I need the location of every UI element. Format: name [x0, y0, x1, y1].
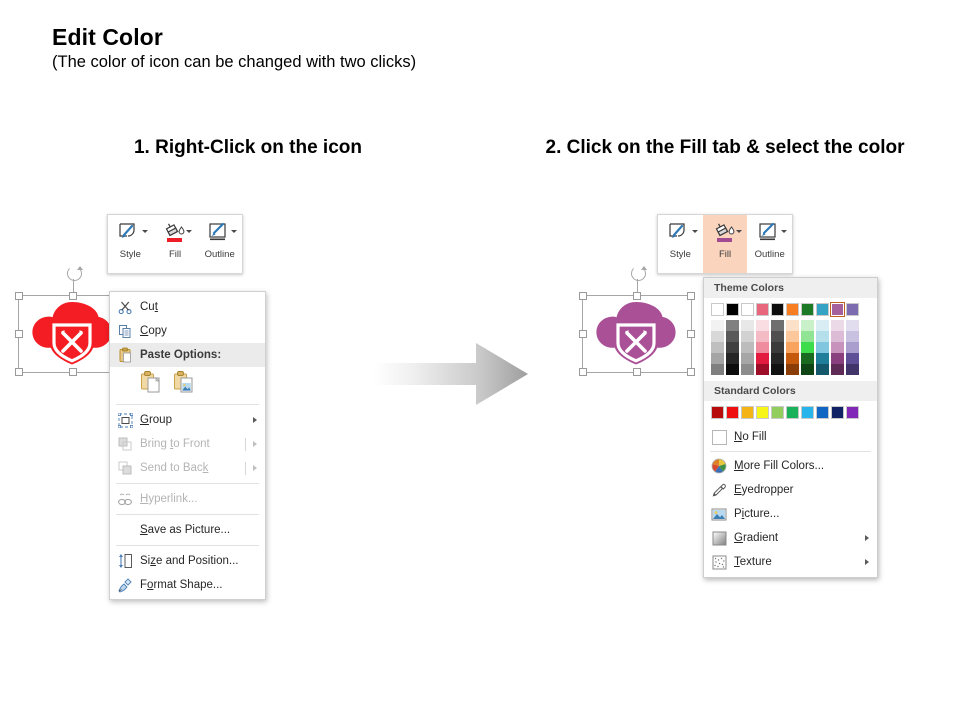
step-2-heading: 2. Click on the Fill tab & select the co…	[495, 133, 955, 162]
fill-bucket-icon	[153, 219, 198, 247]
theme-variant-swatch-7-4[interactable]	[816, 364, 829, 375]
theme-variant-swatch-2-4[interactable]	[741, 364, 754, 375]
paste-keep-formatting-icon[interactable]	[140, 370, 162, 399]
send-to-back-icon	[110, 456, 140, 480]
context-menu-item-copy[interactable]: Copy	[110, 319, 265, 343]
style-button-step2[interactable]: Style	[658, 215, 703, 273]
fill-dropdown-caret[interactable]	[736, 230, 742, 233]
fill-bucket-icon	[703, 219, 748, 247]
theme-variant-swatch-0-0[interactable]	[711, 320, 724, 331]
outline-button-label: Outline	[755, 249, 785, 260]
paste-icon	[110, 343, 140, 367]
theme-variant-swatch-5-4[interactable]	[786, 364, 799, 375]
theme-variant-swatch-5-2[interactable]	[786, 342, 799, 353]
standard-colors-swatch-row[interactable]	[704, 401, 877, 425]
standard-color-swatch-7[interactable]	[816, 406, 829, 419]
standard-color-swatch-8[interactable]	[831, 406, 844, 419]
context-menu-item-bring-to-front: Bring to Front	[110, 432, 265, 456]
color-panel-item-eyedropper[interactable]: Eyedropper	[704, 478, 877, 502]
theme-variant-swatch-4-3[interactable]	[771, 353, 784, 364]
standard-color-swatch-3[interactable]	[756, 406, 769, 419]
theme-variant-column-3[interactable]	[756, 320, 769, 375]
fill-button-label: Fill	[719, 249, 731, 260]
theme-colors-swatch-row[interactable]	[704, 298, 877, 316]
standard-color-swatch-6[interactable]	[801, 406, 814, 419]
theme-variant-swatch-1-2[interactable]	[726, 342, 739, 353]
fill-dropdown-caret[interactable]	[186, 230, 192, 233]
handle-bottom-left[interactable]	[579, 368, 587, 376]
color-panel-separator	[710, 451, 871, 452]
theme-variant-swatch-8-3[interactable]	[831, 353, 844, 364]
theme-variant-column-0[interactable]	[711, 320, 724, 375]
outline-button-label: Outline	[205, 249, 235, 260]
context-menu-item-format-shape[interactable]: Format Shape...	[110, 573, 265, 597]
context-menu[interactable]: Cut Copy Paste Options:	[109, 291, 266, 600]
standard-color-swatch-5[interactable]	[786, 406, 799, 419]
color-panel-item-no-fill[interactable]: No Fill	[704, 425, 877, 449]
theme-variant-swatch-1-0[interactable]	[726, 320, 739, 331]
chevron-right-icon	[253, 441, 257, 447]
shape-style-icon	[108, 219, 153, 247]
theme-variant-column-8[interactable]	[831, 320, 844, 375]
cloud-shield-icon-step1	[26, 299, 118, 367]
theme-variant-swatch-5-3[interactable]	[786, 353, 799, 364]
theme-variant-swatch-6-2[interactable]	[801, 342, 814, 353]
eyedropper-icon	[704, 482, 734, 498]
theme-color-swatch-1[interactable]	[726, 303, 739, 316]
context-menu-label: Bring to Front	[140, 438, 245, 450]
cloud-shield-icon-step2	[590, 299, 682, 367]
color-panel-item-picture[interactable]: Picture...	[704, 502, 877, 526]
context-menu-label: Cut	[140, 301, 265, 313]
group-icon	[110, 408, 140, 432]
theme-color-swatch-4[interactable]	[771, 303, 784, 316]
style-button-label: Style	[670, 249, 691, 260]
color-panel-label: No Fill	[734, 431, 877, 443]
handle-middle-right[interactable]	[687, 330, 695, 338]
standard-color-swatch-1[interactable]	[726, 406, 739, 419]
standard-color-swatch-2[interactable]	[741, 406, 754, 419]
standard-color-swatch-9[interactable]	[846, 406, 859, 419]
standard-colors-label: Standard Colors	[704, 381, 877, 401]
context-menu-label: Size and Position...	[140, 555, 265, 567]
chevron-right-icon	[253, 417, 257, 423]
color-panel-item-texture[interactable]: Texture	[704, 550, 877, 574]
mini-toolbar-step2[interactable]: Style Fill	[657, 214, 793, 274]
theme-variant-swatch-6-3[interactable]	[801, 353, 814, 364]
slide-canvas: Edit Color (The color of icon can be cha…	[0, 0, 960, 720]
theme-variant-swatch-7-2[interactable]	[816, 342, 829, 353]
theme-color-variants-grid[interactable]	[704, 316, 877, 381]
outline-dropdown-caret[interactable]	[231, 230, 237, 233]
paste-options-row[interactable]	[110, 367, 265, 401]
color-panel-label: More Fill Colors...	[734, 460, 877, 472]
context-menu-label: Group	[140, 414, 253, 426]
theme-variant-swatch-4-2[interactable]	[771, 342, 784, 353]
fill-button-step2[interactable]: Fill	[703, 215, 748, 273]
shape-outline-icon	[197, 219, 242, 247]
handle-top-left[interactable]	[579, 292, 587, 300]
theme-variant-swatch-4-1[interactable]	[771, 331, 784, 342]
chevron-right-icon	[865, 535, 869, 541]
theme-variant-swatch-7-3[interactable]	[816, 353, 829, 364]
theme-variant-swatch-3-1[interactable]	[756, 331, 769, 342]
handle-middle-left[interactable]	[15, 330, 23, 338]
theme-color-swatch-6[interactable]	[801, 303, 814, 316]
theme-variant-swatch-4-0[interactable]	[771, 320, 784, 331]
mini-toolbar-step1[interactable]: Style Fill	[107, 214, 243, 274]
theme-variant-swatch-1-1[interactable]	[726, 331, 739, 342]
theme-color-swatch-5[interactable]	[786, 303, 799, 316]
paste-picture-icon[interactable]	[173, 370, 195, 399]
standard-color-swatch-0[interactable]	[711, 406, 724, 419]
theme-color-swatch-2[interactable]	[741, 303, 754, 316]
context-menu-item-send-to-back: Send to Back	[110, 456, 265, 480]
hyperlink-icon	[110, 487, 140, 511]
theme-variant-swatch-4-4[interactable]	[771, 364, 784, 375]
theme-variant-swatch-8-2[interactable]	[831, 342, 844, 353]
context-menu-label: Copy	[140, 325, 265, 337]
theme-variant-swatch-3-2[interactable]	[756, 342, 769, 353]
theme-variant-swatch-3-0[interactable]	[756, 320, 769, 331]
fill-color-picker-panel[interactable]: Theme Colors Standard Colors No Fill	[703, 277, 878, 578]
texture-icon	[704, 555, 734, 570]
handle-bottom-center[interactable]	[69, 368, 77, 376]
context-menu-label: Paste Options:	[140, 349, 265, 361]
theme-variant-swatch-5-0[interactable]	[786, 320, 799, 331]
theme-color-swatch-3[interactable]	[756, 303, 769, 316]
theme-variant-swatch-6-0[interactable]	[801, 320, 814, 331]
menu-divider	[245, 438, 246, 451]
context-menu-item-paste-options: Paste Options:	[110, 343, 265, 367]
context-menu-separator	[116, 545, 259, 546]
theme-variant-swatch-3-3[interactable]	[756, 353, 769, 364]
color-panel-label: Picture...	[734, 508, 877, 520]
blank-icon	[110, 518, 140, 542]
theme-variant-swatch-8-0[interactable]	[831, 320, 844, 331]
theme-variant-swatch-9-2[interactable]	[846, 342, 859, 353]
style-button-label: Style	[120, 249, 141, 260]
theme-variant-column-9[interactable]	[846, 320, 859, 375]
theme-colors-label: Theme Colors	[704, 278, 877, 298]
context-menu-label: Hyperlink...	[140, 493, 265, 505]
color-wheel-icon	[704, 458, 734, 474]
theme-variant-swatch-8-1[interactable]	[831, 331, 844, 342]
theme-variant-swatch-0-2[interactable]	[711, 342, 724, 353]
fill-button-step1[interactable]: Fill	[153, 215, 198, 273]
chevron-right-icon	[253, 465, 257, 471]
style-dropdown-caret[interactable]	[692, 230, 698, 233]
context-menu-label: Send to Back	[140, 462, 245, 474]
style-dropdown-caret[interactable]	[142, 230, 148, 233]
context-menu-label: Format Shape...	[140, 579, 265, 591]
theme-variant-swatch-9-1[interactable]	[846, 331, 859, 342]
no-fill-swatch-icon	[704, 430, 734, 445]
theme-variant-column-5[interactable]	[786, 320, 799, 375]
color-panel-item-more-fill-colors[interactable]: More Fill Colors...	[704, 454, 877, 478]
format-shape-icon	[110, 573, 140, 597]
theme-variant-swatch-0-1[interactable]	[711, 331, 724, 342]
right-arrow-icon	[373, 341, 528, 407]
theme-color-swatch-9[interactable]	[846, 303, 859, 316]
step-1-heading: 1. Right-Click on the icon	[18, 133, 478, 162]
theme-variant-column-7[interactable]	[816, 320, 829, 375]
context-menu-separator	[116, 483, 259, 484]
theme-variant-swatch-0-4[interactable]	[711, 364, 724, 375]
theme-variant-column-1[interactable]	[726, 320, 739, 375]
copy-icon	[110, 319, 140, 343]
color-panel-item-gradient[interactable]: Gradient	[704, 526, 877, 550]
theme-variant-swatch-7-0[interactable]	[816, 320, 829, 331]
selected-shape-step2[interactable]	[578, 266, 688, 371]
page-subtitle: (The color of icon can be changed with t…	[52, 53, 416, 72]
theme-variant-swatch-5-1[interactable]	[786, 331, 799, 342]
theme-variant-swatch-2-3[interactable]	[741, 353, 754, 364]
context-menu-separator	[116, 404, 259, 405]
theme-variant-swatch-3-4[interactable]	[756, 364, 769, 375]
handle-top-left[interactable]	[15, 292, 23, 300]
handle-top-right[interactable]	[687, 292, 695, 300]
picture-icon	[704, 507, 734, 522]
theme-variant-column-4[interactable]	[771, 320, 784, 375]
standard-color-swatch-4[interactable]	[771, 406, 784, 419]
theme-variant-column-2[interactable]	[741, 320, 754, 375]
theme-variant-swatch-1-3[interactable]	[726, 353, 739, 364]
theme-variant-swatch-2-1[interactable]	[741, 331, 754, 342]
theme-variant-swatch-2-2[interactable]	[741, 342, 754, 353]
gradient-icon	[704, 531, 734, 546]
shape-outline-icon	[747, 219, 792, 247]
handle-middle-left[interactable]	[579, 330, 587, 338]
handle-bottom-right[interactable]	[687, 368, 695, 376]
context-menu-item-group[interactable]: Group	[110, 408, 265, 432]
theme-color-swatch-8[interactable]	[831, 303, 844, 316]
context-menu-item-cut[interactable]: Cut	[110, 295, 265, 319]
color-panel-label: Gradient	[734, 532, 865, 544]
theme-variant-column-6[interactable]	[801, 320, 814, 375]
page-title: Edit Color	[52, 24, 163, 51]
outline-dropdown-caret[interactable]	[781, 230, 787, 233]
outline-button-step2[interactable]: Outline	[747, 215, 792, 273]
fill-color-underline	[167, 238, 182, 242]
context-menu-item-size-and-position[interactable]: Size and Position...	[110, 549, 265, 573]
bring-to-front-icon	[110, 432, 140, 456]
outline-button-step1[interactable]: Outline	[197, 215, 242, 273]
selected-shape-step1[interactable]	[14, 266, 124, 371]
rotation-arrow-icon	[77, 266, 83, 270]
theme-color-swatch-7[interactable]	[816, 303, 829, 316]
shape-style-icon	[658, 219, 703, 247]
style-button-step1[interactable]: Style	[108, 215, 153, 273]
menu-divider	[245, 462, 246, 475]
fill-button-label: Fill	[169, 249, 181, 260]
scissors-icon	[110, 295, 140, 319]
theme-variant-swatch-9-4[interactable]	[846, 364, 859, 375]
theme-variant-swatch-9-0[interactable]	[846, 320, 859, 331]
handle-bottom-left[interactable]	[15, 368, 23, 376]
theme-variant-swatch-6-4[interactable]	[801, 364, 814, 375]
context-menu-item-hyperlink: Hyperlink...	[110, 487, 265, 511]
handle-bottom-center[interactable]	[633, 368, 641, 376]
rotation-arrow-icon	[641, 266, 647, 270]
theme-variant-swatch-1-4[interactable]	[726, 364, 739, 375]
context-menu-separator	[116, 514, 259, 515]
theme-variant-swatch-2-0[interactable]	[741, 320, 754, 331]
theme-variant-swatch-9-3[interactable]	[846, 353, 859, 364]
theme-variant-swatch-7-1[interactable]	[816, 331, 829, 342]
theme-variant-swatch-6-1[interactable]	[801, 331, 814, 342]
color-panel-label: Eyedropper	[734, 484, 877, 496]
theme-color-swatch-0[interactable]	[711, 303, 724, 316]
chevron-right-icon	[865, 559, 869, 565]
color-panel-label: Texture	[734, 556, 865, 568]
fill-color-underline	[717, 238, 732, 242]
context-menu-label: Save as Picture...	[140, 524, 265, 536]
theme-variant-swatch-0-3[interactable]	[711, 353, 724, 364]
size-position-icon	[110, 549, 140, 573]
theme-variant-swatch-8-4[interactable]	[831, 364, 844, 375]
context-menu-item-save-as-picture[interactable]: Save as Picture...	[110, 518, 265, 542]
